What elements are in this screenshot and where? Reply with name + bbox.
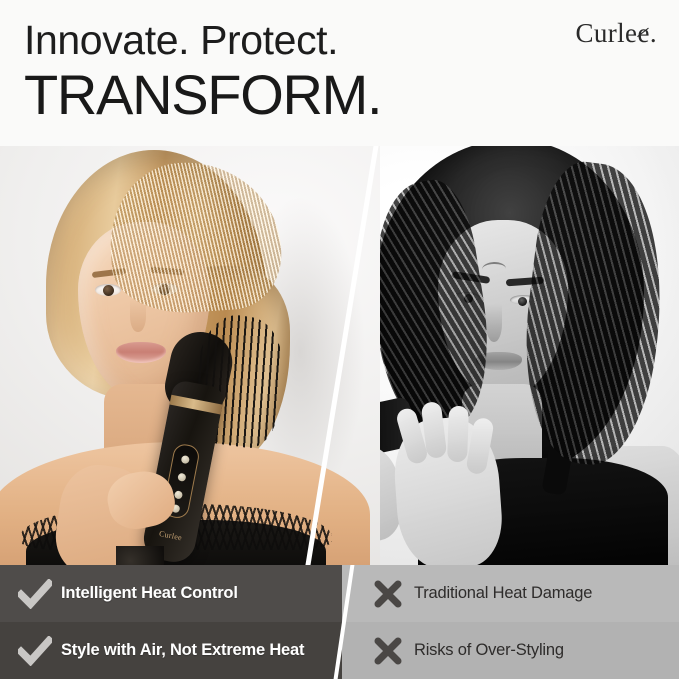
brand-logo-suffix: .	[650, 18, 657, 48]
header: Innovate. Protect. TRANSFORM. Curlee.	[0, 0, 679, 146]
brunette-finger-3	[447, 406, 469, 463]
brunette-frown-line	[482, 262, 506, 277]
headline-primary: Innovate. Protect.	[24, 17, 338, 63]
left-photo-panel: Curlee	[0, 146, 380, 565]
drawback-row: Risks of Over-Styling	[342, 622, 679, 679]
benefit-label: Style with Air, Not Extreme Heat	[61, 641, 304, 660]
x-icon	[368, 631, 408, 671]
styler-brand-label: Curlee	[144, 526, 197, 545]
styler-gold-accent-ring	[170, 395, 223, 415]
headline-secondary: TRANSFORM.	[24, 63, 381, 127]
brand-logo: Curlee.	[575, 18, 657, 48]
drawback-label: Traditional Heat Damage	[414, 584, 592, 603]
comparison-photo-stage: Curlee	[0, 146, 679, 565]
check-icon	[15, 574, 55, 614]
benefit-label: Intelligent Heat Control	[61, 584, 238, 603]
benefit-row: Intelligent Heat Control	[0, 565, 352, 622]
brand-logo-prefix: Curle	[575, 18, 637, 48]
benefit-row: Style with Air, Not Extreme Heat	[0, 622, 352, 679]
styler-button-1	[181, 455, 190, 464]
styler-air-vent	[116, 546, 164, 565]
drawback-row: Traditional Heat Damage	[342, 565, 679, 622]
x-icon	[368, 574, 408, 614]
styler-button-2	[177, 473, 186, 482]
brand-logo-slashed-e: e	[637, 18, 649, 48]
product-comparison-infographic: Innovate. Protect. TRANSFORM. Curlee.	[0, 0, 679, 679]
drawback-label: Risks of Over-Styling	[414, 641, 564, 660]
check-icon	[15, 631, 55, 671]
brunette-nose	[486, 304, 502, 342]
blonde-iris-left	[103, 285, 114, 296]
styler-button-3	[174, 490, 183, 499]
benefits-banner: Intelligent Heat Control Style with Air,…	[0, 565, 352, 679]
brunette-iris-right	[518, 297, 527, 306]
feature-comparison-banners: Intelligent Heat Control Style with Air,…	[0, 565, 679, 679]
drawbacks-banner: Traditional Heat Damage Risks of Over-St…	[342, 565, 679, 679]
